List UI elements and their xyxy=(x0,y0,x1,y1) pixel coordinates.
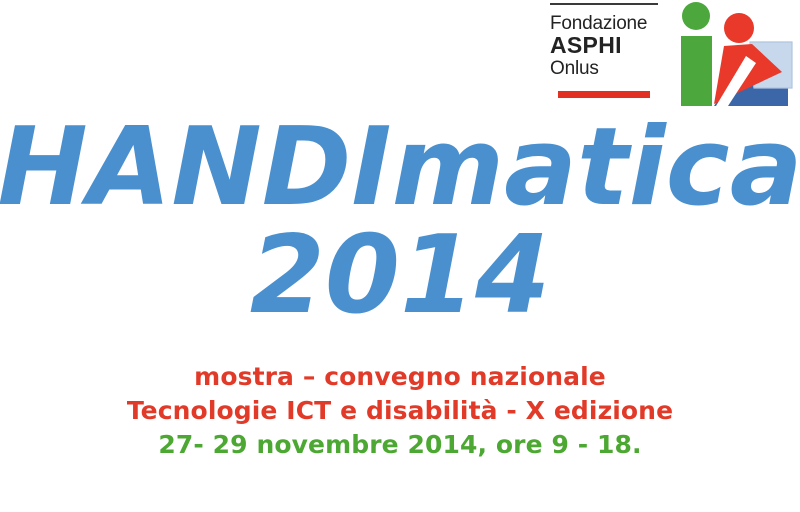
event-year: 2014 xyxy=(250,213,551,338)
caption-theme: Tecnologie ICT e disabilità - X edizione xyxy=(0,394,800,428)
logo-wordmark-text: Fondazione ASPHI Onlus xyxy=(550,14,670,78)
asphi-person-at-computer-icon xyxy=(672,0,800,110)
caption-block: mostra – convegno nazionale Tecnologie I… xyxy=(0,360,800,462)
logo-line-onlus: Onlus xyxy=(550,59,670,78)
event-wordmark: HANDImatica 2014 xyxy=(0,104,800,344)
logo-line-asphi: ASPHI xyxy=(550,34,670,57)
logo-red-underbar xyxy=(558,91,650,98)
logo-line-fondazione: Fondazione xyxy=(550,14,670,33)
caption-subtitle: mostra – convegno nazionale xyxy=(0,360,800,394)
asphi-logo: Fondazione ASPHI Onlus xyxy=(540,0,800,112)
page-title: HANDImatica xyxy=(0,105,800,230)
handimatica-2014-poster: Fondazione ASPHI Onlus xyxy=(0,0,800,512)
caption-dates: 27- 29 novembre 2014, ore 9 - 18. xyxy=(0,428,800,462)
logo-top-rule xyxy=(550,3,658,5)
